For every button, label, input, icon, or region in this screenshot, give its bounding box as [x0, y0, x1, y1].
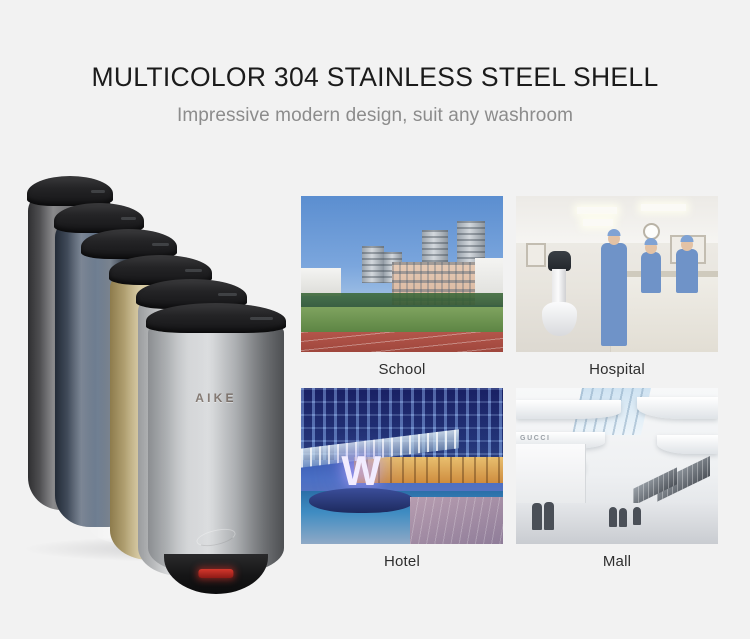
- shopper: [532, 503, 542, 530]
- shopper: [544, 502, 554, 530]
- surgical-cap: [680, 235, 693, 242]
- service-robot-head: [548, 251, 570, 271]
- gallery-cell-hospital[interactable]: Hospital: [516, 196, 718, 388]
- running-track: [301, 332, 503, 352]
- surgical-cap: [645, 238, 658, 245]
- paved-plaza: [410, 497, 503, 544]
- wall-clock: [643, 223, 660, 240]
- shopper: [619, 508, 627, 527]
- ceiling-light: [583, 219, 613, 226]
- application-gallery: School: [301, 196, 718, 580]
- balcony-level: [657, 435, 718, 454]
- photo-hospital[interactable]: [516, 196, 718, 352]
- gallery-row: School: [301, 196, 718, 388]
- dryer-top-cap: [146, 303, 286, 333]
- product-image-group: AIKE: [0, 160, 300, 590]
- hotel-w-sculpture: W: [341, 450, 381, 492]
- page-title: MULTICOLOR 304 STAINLESS STEEL SHELL: [0, 62, 750, 92]
- wall-picture: [526, 243, 546, 267]
- apartment-tower: [362, 246, 384, 283]
- led-indicator: [198, 569, 233, 578]
- dryer-base: [164, 554, 267, 594]
- hand-dryer-stainless-front: AIKE: [148, 312, 284, 574]
- gallery-cell-school[interactable]: School: [301, 196, 503, 388]
- balcony-level: [516, 400, 621, 419]
- photo-caption: Hotel: [301, 544, 503, 580]
- nurse-background: [676, 249, 698, 293]
- gallery-row: W Hotel GUCCI: [301, 388, 718, 580]
- shopper: [633, 507, 641, 526]
- photo-school[interactable]: [301, 196, 503, 352]
- product-brand-logo: AIKE: [195, 391, 236, 405]
- ceiling-light: [577, 207, 617, 214]
- photo-caption: Hospital: [516, 352, 718, 388]
- gallery-cell-hotel[interactable]: W Hotel: [301, 388, 503, 580]
- ceiling-light: [641, 204, 685, 211]
- white-building: [301, 268, 341, 296]
- photo-caption: School: [301, 352, 503, 388]
- gallery-cell-mall[interactable]: GUCCI Mall: [516, 388, 718, 580]
- store-brand-sign: GUCCI: [520, 435, 551, 442]
- photo-mall[interactable]: GUCCI: [516, 388, 718, 544]
- dryer-body: AIKE: [148, 312, 284, 574]
- pool-sculpture: [309, 488, 414, 513]
- photo-hotel[interactable]: W: [301, 388, 503, 544]
- dryer-top-cap: [27, 176, 114, 206]
- sports-field: [301, 307, 503, 332]
- shopper: [609, 507, 617, 527]
- header-block: MULTICOLOR 304 STAINLESS STEEL SHELL Imp…: [0, 0, 750, 127]
- page-subtitle: Impressive modern design, suit any washr…: [0, 105, 750, 127]
- surgical-cap: [607, 229, 620, 236]
- photo-caption: Mall: [516, 544, 718, 580]
- nurse-foreground: [601, 243, 627, 346]
- nurse-background: [641, 252, 661, 293]
